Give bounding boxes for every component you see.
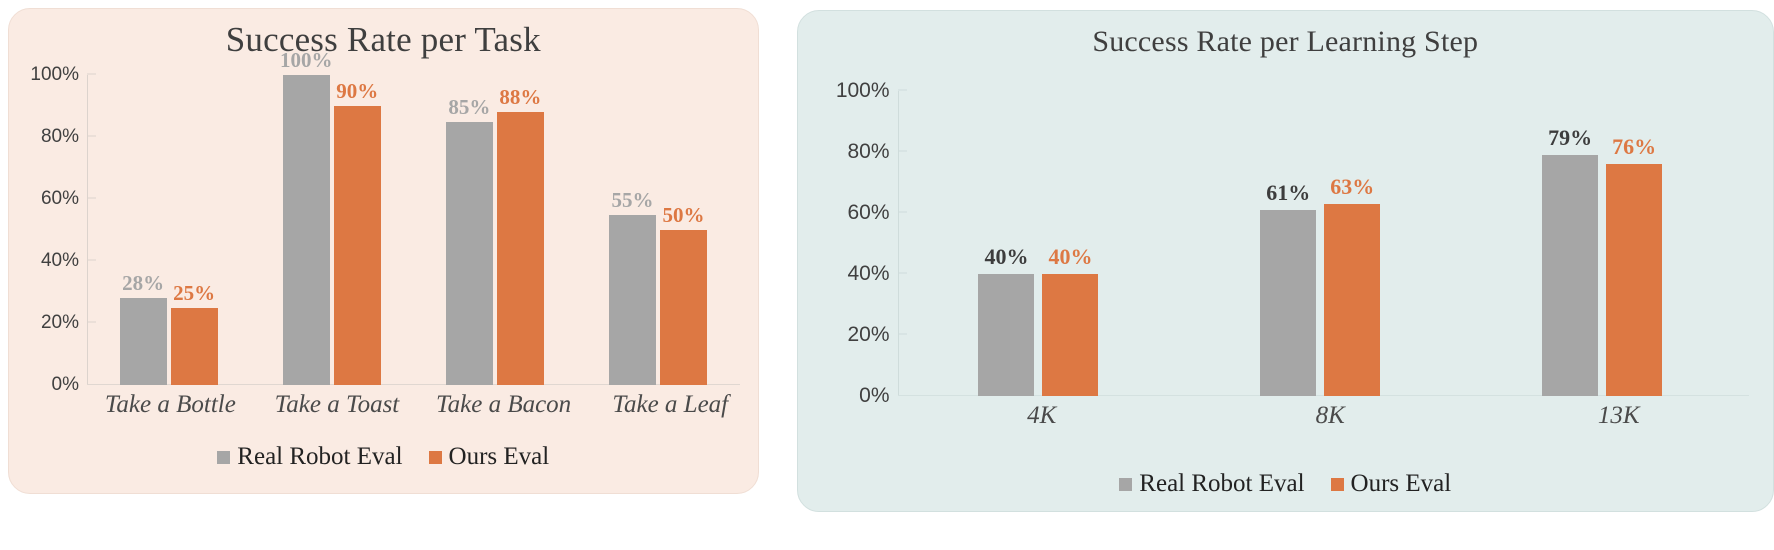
bar-value-label: 50%	[662, 205, 704, 226]
y-axis-tick-label: 100%	[30, 64, 79, 86]
plot-area: 0%20%40%60%80%100% 28%25%100%90%85%88%55…	[23, 75, 744, 385]
bar-value-label: 40%	[1048, 246, 1092, 268]
y-axis-tick-mark	[87, 322, 96, 323]
bar-real-robot-eval[interactable]: 79%	[1542, 155, 1598, 396]
bar-group: 85%88%	[413, 75, 576, 385]
bar-groups: 40%40%61%63%79%76%	[898, 91, 1743, 396]
y-axis-tick-label: 40%	[848, 262, 890, 286]
category-labels: Take a BottleTake a ToastTake a BaconTak…	[87, 391, 754, 419]
y-axis-tick-label: 20%	[41, 312, 79, 334]
bar-real-robot-eval[interactable]: 55%	[609, 215, 656, 386]
legend-swatch-icon	[217, 451, 230, 464]
bar-ours-eval[interactable]: 25%	[171, 308, 218, 386]
bar-value-label: 76%	[1612, 136, 1656, 158]
legend-label: Ours Eval	[1351, 470, 1452, 498]
plot-area: 0%20%40%60%80%100% 40%40%61%63%79%76%	[818, 91, 1753, 396]
bar-group: 55%50%	[576, 75, 739, 385]
y-axis-tick-mark	[898, 90, 907, 91]
chart-legend: Real Robot EvalOurs Eval	[798, 470, 1773, 498]
y-axis-tick-mark	[898, 334, 907, 335]
bar-real-robot-eval[interactable]: 61%	[1260, 210, 1316, 396]
legend-label: Ours Eval	[449, 443, 550, 471]
legend-swatch-icon	[429, 451, 442, 464]
bar-real-robot-eval[interactable]: 100%	[283, 75, 330, 385]
y-axis-labels: 0%20%40%60%80%100%	[23, 75, 87, 385]
bar-real-robot-eval[interactable]: 28%	[120, 298, 167, 385]
legend-item[interactable]: Real Robot Eval	[217, 443, 402, 471]
y-axis-tick-mark	[898, 151, 907, 152]
bar-group: 79%76%	[1461, 91, 1743, 396]
y-axis-tick-label: 60%	[848, 201, 890, 225]
category-label: 13K	[1475, 402, 1763, 430]
y-axis-tick-label: 40%	[41, 250, 79, 272]
y-axis-labels: 0%20%40%60%80%100%	[818, 91, 898, 396]
legend-label: Real Robot Eval	[1139, 470, 1304, 498]
legend-swatch-icon	[1331, 478, 1344, 491]
y-axis-tick-label: 100%	[836, 79, 890, 103]
category-label: 4K	[898, 402, 1186, 430]
category-label: Take a Bottle	[87, 391, 254, 419]
y-axis-tick-label: 80%	[41, 126, 79, 148]
y-axis-tick-mark	[87, 260, 96, 261]
bar-value-label: 25%	[173, 283, 215, 304]
bar-value-label: 90%	[336, 81, 378, 102]
category-label: Take a Leaf	[587, 391, 754, 419]
category-label: 8K	[1186, 402, 1474, 430]
legend-swatch-icon	[1119, 478, 1132, 491]
category-label: Take a Bacon	[420, 391, 587, 419]
bar-value-label: 100%	[280, 50, 333, 71]
category-label: Take a Toast	[254, 391, 421, 419]
chart-panel-success-rate-per-learning-step: Success Rate per Learning Step 0%20%40%6…	[797, 10, 1774, 512]
y-axis-tick-mark	[87, 136, 96, 137]
bar-value-label: 63%	[1330, 176, 1374, 198]
y-axis-tick-label: 80%	[848, 140, 890, 164]
bar-group: 40%40%	[898, 91, 1180, 396]
category-labels: 4K8K13K	[898, 402, 1763, 430]
y-axis-tick-label: 20%	[848, 323, 890, 347]
bar-ours-eval[interactable]: 88%	[497, 112, 544, 385]
bar-groups: 28%25%100%90%85%88%55%50%	[87, 75, 740, 385]
y-axis-tick-label: 60%	[41, 188, 79, 210]
bar-ours-eval[interactable]: 76%	[1606, 164, 1662, 396]
bar-group: 100%90%	[250, 75, 413, 385]
bar-ours-eval[interactable]: 40%	[1042, 274, 1098, 396]
legend-item[interactable]: Real Robot Eval	[1119, 470, 1304, 498]
bar-ours-eval[interactable]: 63%	[1324, 204, 1380, 396]
bar-value-label: 85%	[448, 97, 490, 118]
y-axis-tick-label: 0%	[52, 374, 79, 396]
bar-value-label: 55%	[611, 190, 653, 211]
bar-value-label: 61%	[1266, 182, 1310, 204]
bar-ours-eval[interactable]: 90%	[334, 106, 381, 385]
bar-value-label: 28%	[122, 273, 164, 294]
legend-item[interactable]: Ours Eval	[1331, 470, 1452, 498]
chart-panel-success-rate-per-task: Success Rate per Task 0%20%40%60%80%100%…	[8, 8, 759, 494]
bar-value-label: 40%	[984, 246, 1028, 268]
bar-value-label: 79%	[1548, 127, 1592, 149]
bar-real-robot-eval[interactable]: 85%	[446, 122, 493, 386]
figure-root: Success Rate per Task 0%20%40%60%80%100%…	[0, 0, 1774, 550]
chart-title: Success Rate per Task	[9, 9, 758, 57]
y-axis-tick-mark	[898, 212, 907, 213]
legend-label: Real Robot Eval	[237, 443, 402, 471]
bar-real-robot-eval[interactable]: 40%	[978, 274, 1034, 396]
bar-group: 28%25%	[87, 75, 250, 385]
legend-item[interactable]: Ours Eval	[429, 443, 550, 471]
bar-group: 61%63%	[1179, 91, 1461, 396]
y-axis-tick-label: 0%	[859, 384, 889, 408]
bar-ours-eval[interactable]: 50%	[660, 230, 707, 385]
chart-title: Success Rate per Learning Step	[798, 11, 1773, 57]
chart-legend: Real Robot EvalOurs Eval	[9, 443, 758, 471]
y-axis-tick-mark	[898, 273, 907, 274]
y-axis-tick-mark	[87, 74, 96, 75]
y-axis-tick-mark	[87, 198, 96, 199]
bar-value-label: 88%	[499, 87, 541, 108]
